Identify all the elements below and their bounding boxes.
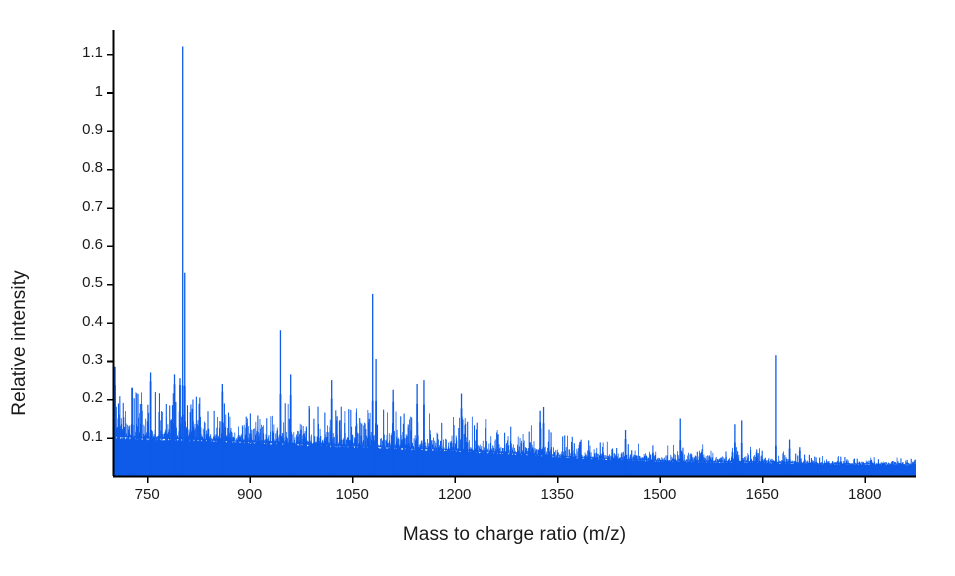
y-tick-label: 0.2 xyxy=(49,389,103,406)
mass-spectrum-figure: Relative intensity 0.10.20.30.40.50.60.7… xyxy=(0,0,955,576)
x-tick-label: 900 xyxy=(210,486,290,503)
x-tick-label: 1050 xyxy=(312,486,392,503)
y-axis-title: Relative intensity xyxy=(0,0,40,576)
spectrum-trace xyxy=(113,30,916,476)
y-tick-label: 1 xyxy=(49,83,103,100)
y-tick-label: 0.9 xyxy=(49,121,103,138)
x-tick-label: 1500 xyxy=(620,486,700,503)
y-tick-label: 0.8 xyxy=(49,159,103,176)
y-tick-label: 0.3 xyxy=(49,351,103,368)
x-tick-label: 1200 xyxy=(415,486,495,503)
plot-area xyxy=(113,30,916,476)
y-tick-label: 1.1 xyxy=(49,44,103,61)
y-tick-label: 0.6 xyxy=(49,236,103,253)
y-tick-label: 0.5 xyxy=(49,274,103,291)
y-tick-label: 0.7 xyxy=(49,198,103,215)
x-tick-label: 1650 xyxy=(722,486,802,503)
y-tick-label: 0.1 xyxy=(49,428,103,445)
x-tick-label: 750 xyxy=(107,486,187,503)
y-tick-label: 0.4 xyxy=(49,313,103,330)
x-tick-label: 1800 xyxy=(825,486,905,503)
x-axis-title: Mass to charge ratio (m/z) xyxy=(113,524,916,546)
x-tick-label: 1350 xyxy=(517,486,597,503)
